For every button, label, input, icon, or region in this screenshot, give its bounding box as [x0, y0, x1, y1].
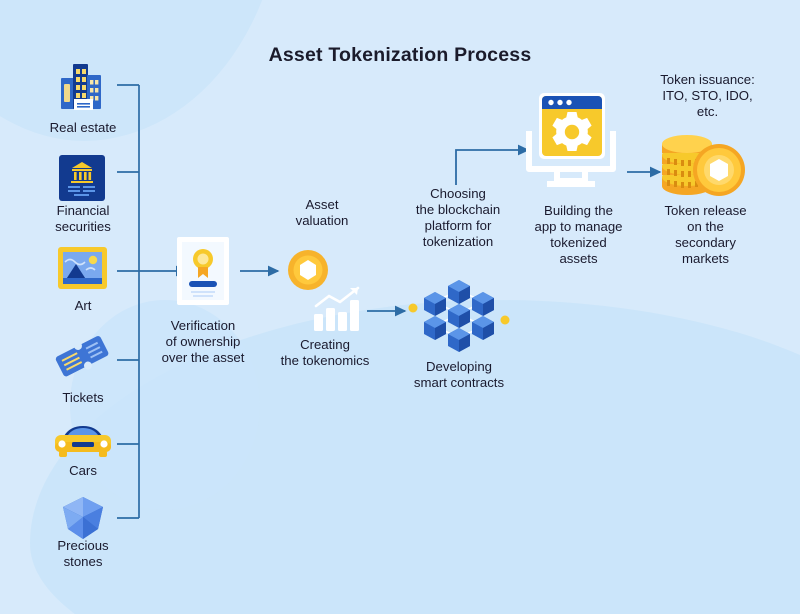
painting-icon — [58, 247, 107, 289]
car-icon — [52, 422, 114, 460]
asset-label-precious-stones: Precious stones — [12, 538, 154, 570]
certificate-icon — [177, 237, 229, 305]
tickets-icon — [54, 333, 112, 383]
step-label-token-issuance: Token issuance: ITO, STO, IDO, etc. — [640, 72, 775, 120]
step-label-tokenomics: Creating the tokenomics — [260, 337, 390, 369]
asset-label-financial-securities: Financial securities — [12, 203, 154, 235]
asset-label-cars: Cars — [12, 463, 154, 479]
step-label-blockchain-platform: Choosing the blockchain platform for tok… — [396, 186, 520, 250]
coin-icon — [287, 249, 329, 291]
infographic-canvas: Asset Tokenization Process — [0, 0, 800, 614]
coin-stack-icon — [657, 134, 749, 200]
step-label-asset-valuation: Asset valuation — [272, 197, 372, 229]
buildings-icon — [55, 58, 111, 112]
step-label-token-release: Token release on the secondary markets — [638, 203, 773, 267]
bar-chart-icon — [312, 286, 364, 332]
browser-gear-icon — [517, 85, 625, 190]
bank-card-icon — [59, 155, 105, 201]
step-label-smart-contracts: Developing smart contracts — [392, 359, 526, 391]
asset-label-art: Art — [12, 298, 154, 314]
asset-label-real-estate: Real estate — [12, 120, 154, 136]
gemstone-icon — [60, 495, 106, 541]
step-label-verification: Verification of ownership over the asset — [139, 318, 267, 366]
blockchain-cubes-icon — [405, 268, 513, 356]
asset-label-tickets: Tickets — [12, 390, 154, 406]
step-label-app-building: Building the app to manage tokenized ass… — [516, 203, 641, 267]
